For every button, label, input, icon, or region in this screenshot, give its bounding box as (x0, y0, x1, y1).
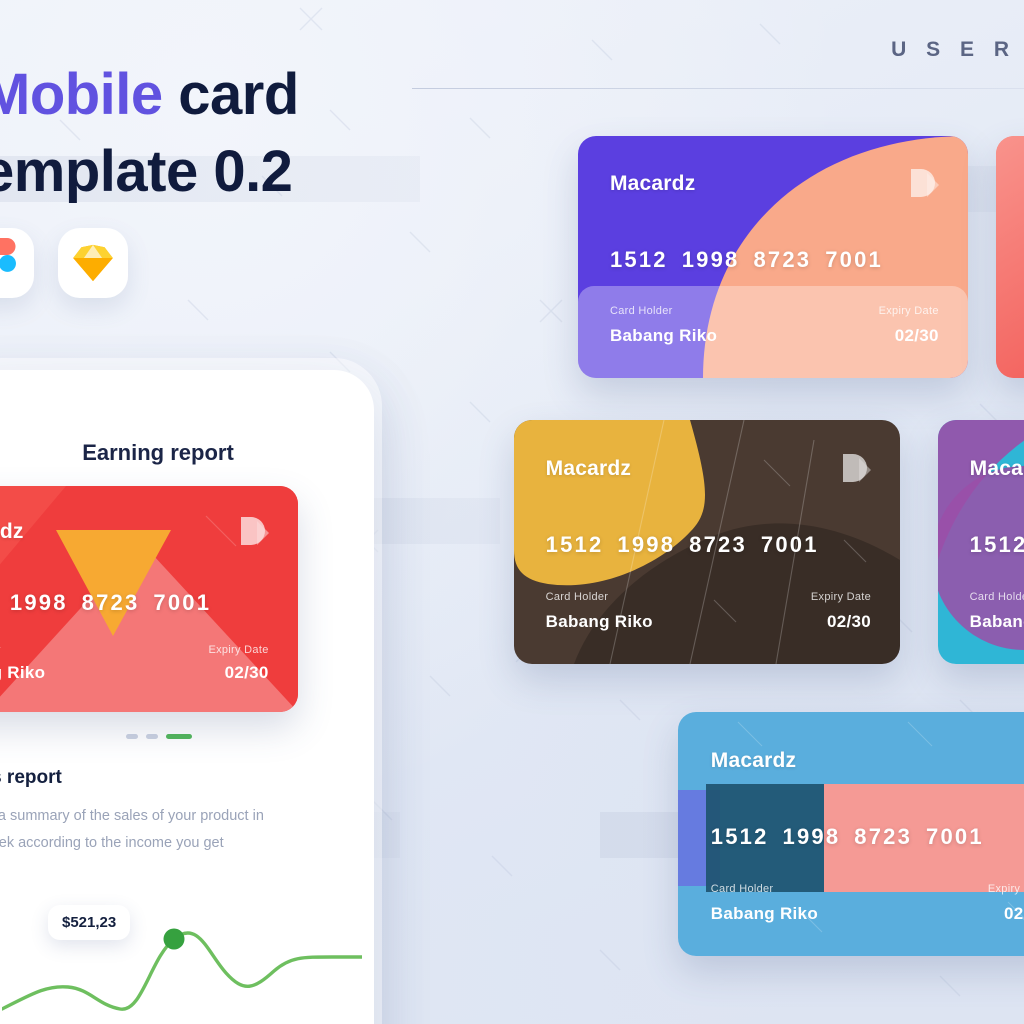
card-number: 1512199887237001 (970, 532, 1024, 558)
chart-svg (2, 877, 362, 1024)
card-expiry-value: 02/30 (827, 612, 871, 632)
hero-heading-block: Mobile card emplate 0.2 (0, 56, 452, 210)
card-expiry-label: Expiry Date (811, 591, 871, 603)
card-expiry-value: 02/30 (895, 326, 939, 346)
card-holder-value: Babang Riko (0, 663, 45, 683)
card-expiry-value: 02/30 (225, 663, 269, 683)
background-divider-line (412, 88, 1024, 89)
credit-card-cyan[interactable]: Macardz 1512199887237001 Card Holder Bab… (938, 420, 1024, 664)
card-logo-icon (907, 167, 941, 203)
card-number: 1512199887237001 (711, 824, 998, 850)
phone-card-slot: Macardz 1512199887237001 Card Holder Bab… (0, 486, 374, 712)
card-holder-value: Babang Riko (711, 904, 818, 924)
chart-highlight-point (164, 928, 185, 949)
page-title: Mobile card (0, 56, 452, 133)
card-holder-label: Card Holder (970, 591, 1024, 603)
card-holder-label: Card Holder (711, 883, 774, 895)
card-logo-icon (839, 452, 873, 488)
sales-report-description: This is a summary of the sales of your p… (0, 803, 292, 857)
card-expiry-label: Expiry Date (208, 644, 268, 656)
design-preview-canvas: U S E R Mobile card emplate 0.2 (0, 0, 1024, 1024)
chart-tooltip: $521,23 (48, 905, 130, 940)
pagination-dot[interactable] (126, 734, 138, 739)
tool-badges (0, 228, 128, 298)
card-holder-value: Babang Riko (610, 326, 717, 346)
sales-report-section: Sales report This is a summary of the sa… (0, 739, 374, 1024)
card-brand-name: Macardz (711, 749, 796, 773)
credit-card-purple[interactable]: Macardz 1512199887237001 Card Holder Bab… (578, 136, 968, 378)
card-brand-name: Macardz (0, 520, 24, 544)
card-number: 1512199887237001 (610, 247, 897, 273)
card-holder-label: Card Holder (0, 644, 1, 656)
card-number: 1512199887237001 (0, 590, 225, 616)
credit-card-brown[interactable]: Macardz 1512199887237001 Card Holder Bab… (514, 420, 900, 664)
phone-navbar: Earning report (0, 370, 374, 480)
credit-card-red-edge[interactable]: Macardz (996, 136, 1024, 378)
credit-card-blue[interactable]: Macardz 1512199887237001 Card Holder Bab… (678, 712, 1024, 956)
card-brand-name: Macardz (546, 457, 631, 481)
phone-mockup: Earning report Macardz (0, 370, 374, 1024)
card-expiry-value: 02/30 (1004, 904, 1024, 924)
credit-card-red[interactable]: Macardz 1512199887237001 Card Holder Bab… (0, 486, 298, 712)
figma-icon (0, 238, 16, 288)
card-holder-label: Card Holder (546, 591, 609, 603)
sales-line-chart: $800+ $500 $100 $521,23 (0, 877, 358, 1024)
sketch-icon (72, 244, 114, 282)
card-expiry-label: Expiry Date (988, 883, 1024, 895)
card-brand-name: Macardz (970, 457, 1024, 481)
card-holder-value: Babang Riko (546, 612, 653, 632)
pagination-dot[interactable] (146, 734, 158, 739)
card-brand-name: Macardz (610, 172, 695, 196)
card-logo-icon (237, 515, 271, 551)
sketch-badge[interactable] (58, 228, 128, 298)
card-artwork (996, 136, 1024, 378)
figma-badge[interactable] (0, 228, 34, 298)
page-title-line2: emplate 0.2 (0, 133, 452, 210)
page-title-accent: Mobile (0, 62, 163, 127)
card-holder-value: Babang Riko (970, 612, 1024, 632)
pagination-dot-active[interactable] (166, 734, 192, 739)
sales-report-heading: Sales report (0, 767, 358, 789)
card-number: 1512199887237001 (546, 532, 833, 558)
page-title-rest: card (163, 62, 299, 127)
card-holder-label: Card Holder (610, 305, 673, 317)
card-expiry-label: Expiry Date (879, 305, 939, 317)
user-label: U S E R (891, 38, 1016, 62)
phone-screen-title: Earning report (0, 440, 324, 466)
